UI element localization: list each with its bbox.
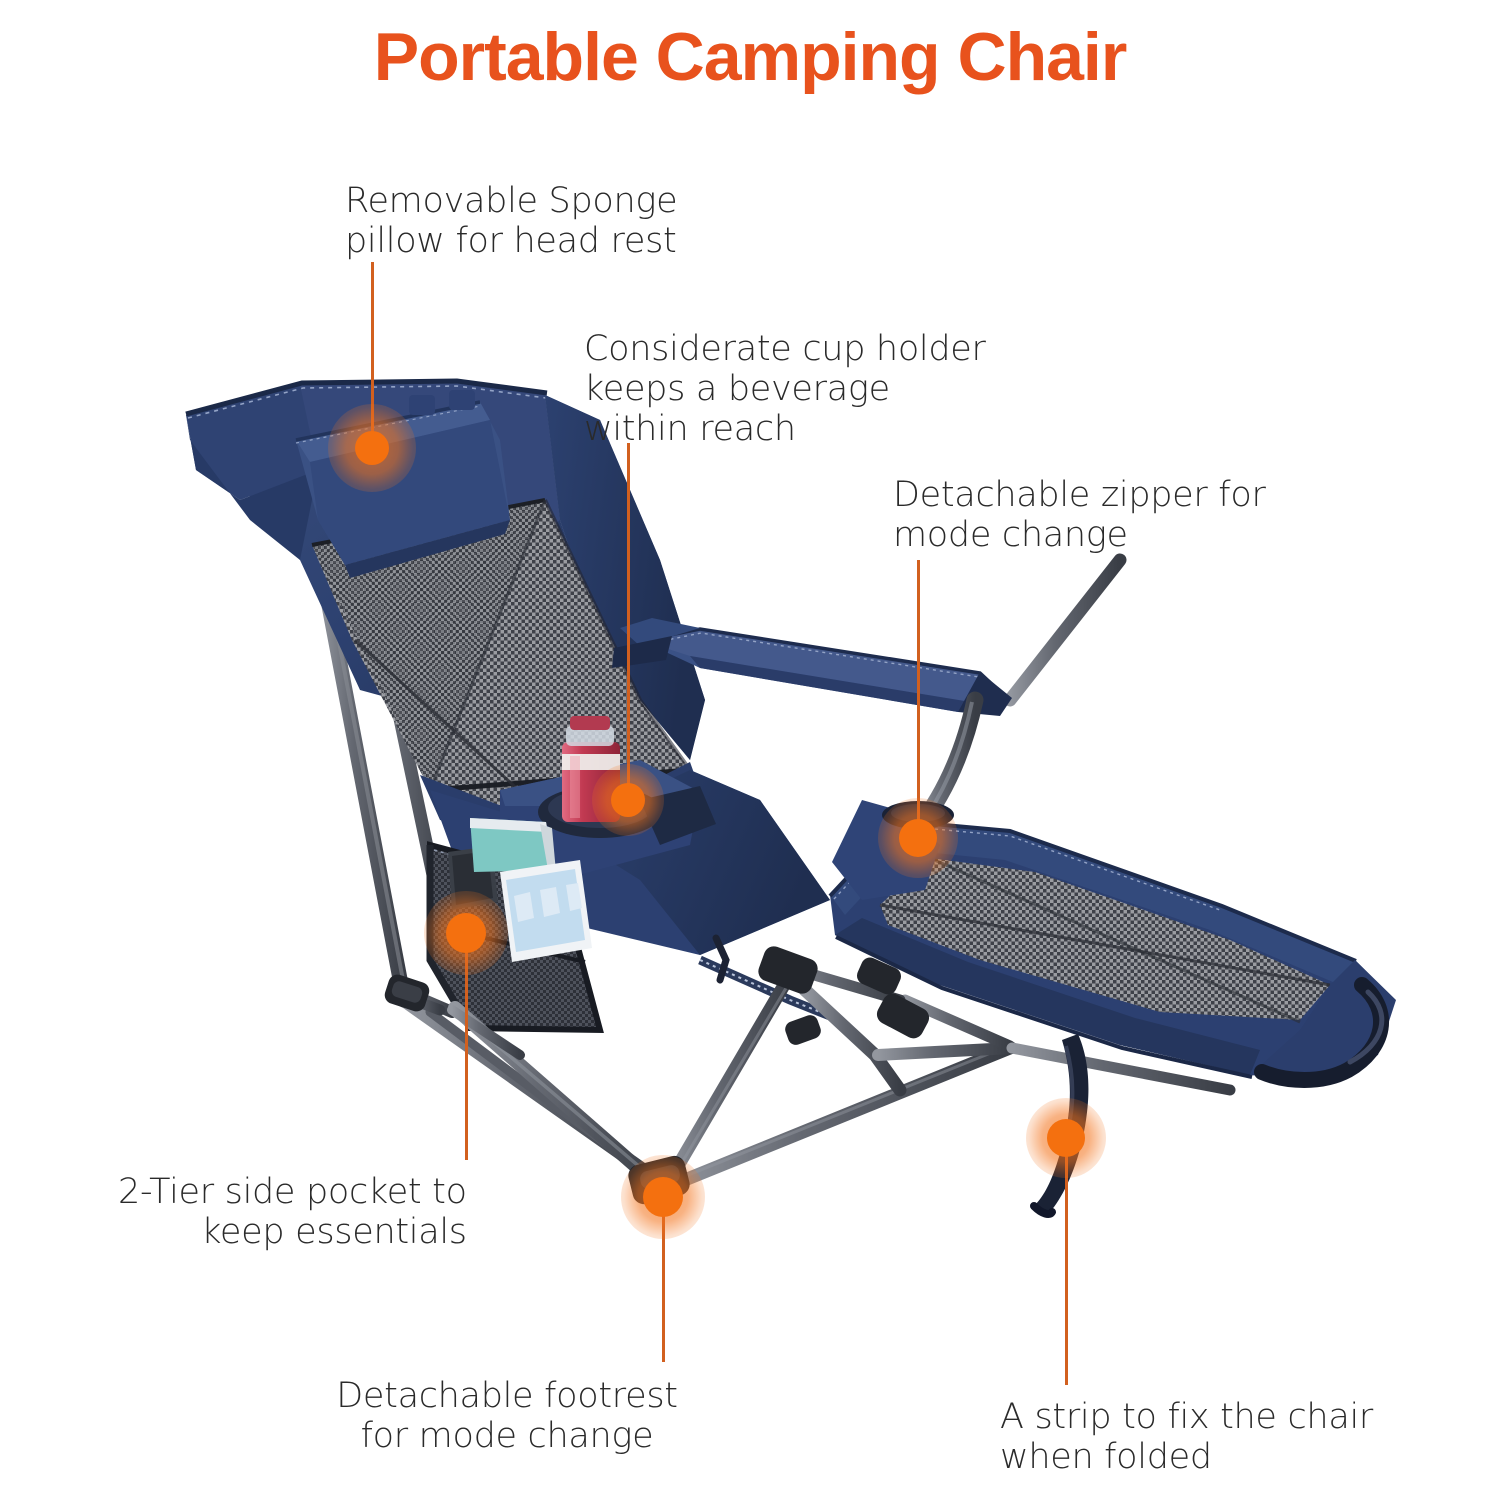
- dot-core: [446, 913, 486, 953]
- callout-line: keeps a beverage: [584, 370, 986, 410]
- callout-line: Detachable footrest: [307, 1377, 707, 1417]
- dot-core: [899, 819, 937, 857]
- page-title: Portable Camping Chair: [0, 18, 1500, 96]
- callout-line: when folded: [1000, 1438, 1373, 1478]
- callout-label-strip: A strip to fix the chair when folded: [1000, 1398, 1373, 1478]
- callout-line: for mode change: [307, 1417, 707, 1457]
- callout-line: Considerate cup holder: [584, 330, 986, 370]
- callout-line: keep essentials: [118, 1213, 467, 1253]
- callout-line: A strip to fix the chair: [1000, 1398, 1373, 1438]
- callout-label-pillow: Removable Sponge pillow for head rest: [345, 182, 677, 262]
- callout-line: Detachable zipper for: [893, 476, 1266, 516]
- callout-line: 2-Tier side pocket to: [118, 1173, 467, 1213]
- dot-core: [611, 783, 645, 817]
- product-photo-camping-chair: [0, 0, 1500, 1500]
- leader-line-zipper: [917, 560, 920, 838]
- callout-label-side-pocket: 2-Tier side pocket to keep essentials: [118, 1173, 467, 1253]
- dot-core: [355, 431, 389, 465]
- callout-label-cup-holder: Considerate cup holder keeps a beverage …: [584, 330, 986, 450]
- callout-label-zipper: Detachable zipper for mode change: [893, 476, 1266, 556]
- callout-line: within reach: [584, 410, 986, 450]
- infographic-canvas: Portable Camping Chair Removable Sponge …: [0, 0, 1500, 1500]
- dot-core: [1047, 1119, 1085, 1157]
- leader-line-cup-holder: [627, 443, 630, 800]
- callout-line: mode change: [893, 516, 1266, 556]
- callout-label-footrest: Detachable footrest for mode change: [307, 1377, 707, 1457]
- callout-line: pillow for head rest: [345, 222, 677, 262]
- callout-line: Removable Sponge: [345, 182, 677, 222]
- dot-core: [643, 1177, 683, 1217]
